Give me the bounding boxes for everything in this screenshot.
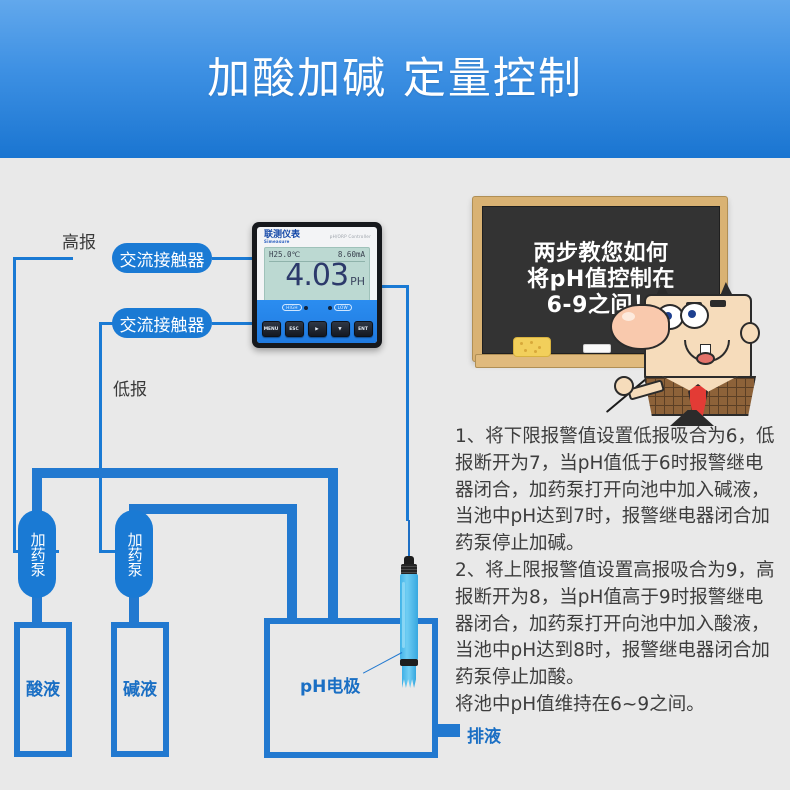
led-low-label: LOW xyxy=(334,304,352,311)
teacher-hand xyxy=(614,376,634,396)
controller-brand: 联测仪表 Simeasure xyxy=(264,231,300,244)
key-down-arrow-icon[interactable]: ▼ xyxy=(331,321,350,337)
wire-controller-to-electrode-h xyxy=(380,285,409,288)
electrode-label: pH电极 xyxy=(300,672,360,697)
ph-controller-device[interactable]: 联测仪表 Simeasure pH/ORP Controller H25.0℃ … xyxy=(252,222,382,348)
led-low: LOW xyxy=(328,304,352,311)
teacher-ear xyxy=(740,322,760,344)
controller-keypad-panel: HIGH LOW MENU ESC ▶ ▼ ENT xyxy=(257,300,377,343)
key-enter-button[interactable]: ENT xyxy=(354,321,373,337)
pipe-right-pump-to-alkali-tank xyxy=(129,596,139,624)
electrode-tip xyxy=(402,666,416,688)
wire-high-vertical xyxy=(13,257,16,553)
controller-model-label: pH/ORP Controller xyxy=(330,234,371,239)
sponge-eraser-icon xyxy=(513,337,551,357)
pump-alkali[interactable]: 加药泵 xyxy=(115,510,153,598)
contactor-low[interactable]: 交流接触器 xyxy=(112,308,212,338)
teacher-nose xyxy=(610,304,670,350)
wire-high-contactor-to-controller xyxy=(212,257,256,260)
page-root: 加酸加碱 定量控制 交流接触器 交流接触器 高报 低报 加药泵 加药泵 酸液 碱… xyxy=(0,0,790,790)
page-header: 加酸加碱 定量控制 xyxy=(0,0,790,158)
high-alarm-label: 高报 xyxy=(62,228,96,253)
contactor-high[interactable]: 交流接触器 xyxy=(112,243,212,273)
lcd-reading: 4.03 PH xyxy=(265,262,365,291)
blackboard-line-1: 两步教您如何 xyxy=(533,241,668,267)
pipe-right-top-run xyxy=(129,504,297,514)
page-title: 加酸加碱 定量控制 xyxy=(0,44,790,106)
pipe-left-down-to-tank xyxy=(328,468,338,623)
lcd-ph-unit: PH xyxy=(350,276,365,291)
wire-low-contactor-to-controller xyxy=(212,322,256,325)
instruction-step-3: 将池中pH值维持在6~9之间。 xyxy=(455,692,775,719)
tank-acid-label: 酸液 xyxy=(14,675,72,700)
drain-label: 排液 xyxy=(467,722,501,747)
electrode-highlight xyxy=(402,582,405,648)
wire-high-contactor-left xyxy=(13,257,73,260)
ph-electrode xyxy=(398,556,420,692)
controller-lcd-screen: H25.0℃ 8.60mA 4.03 PH xyxy=(264,247,370,304)
pump-acid[interactable]: 加药泵 xyxy=(18,510,56,598)
pump-acid-label: 加药泵 xyxy=(29,532,44,577)
drain-outlet-pipe xyxy=(434,724,460,737)
teacher-pupil-right xyxy=(688,310,696,318)
led-indicator-row: HIGH LOW xyxy=(257,304,377,311)
chalk-stick-icon xyxy=(583,344,611,353)
contactor-high-label: 交流接触器 xyxy=(120,246,205,271)
key-menu-button[interactable]: MENU xyxy=(262,321,281,337)
pipe-right-down-to-tank xyxy=(287,504,297,623)
teacher-brow-right xyxy=(710,300,726,307)
wire-low-vertical xyxy=(99,322,102,553)
controller-faceplate: 联测仪表 Simeasure pH/ORP Controller H25.0℃ … xyxy=(257,227,377,343)
wire-controller-to-electrode-v xyxy=(406,285,409,521)
electrode-cable xyxy=(408,520,410,558)
electrode-band xyxy=(400,659,418,666)
led-low-lamp-icon xyxy=(328,306,332,310)
low-alarm-label: 低报 xyxy=(113,375,147,400)
pipe-left-top-run xyxy=(32,468,338,478)
led-high: HIGH xyxy=(282,304,308,311)
teacher-tongue xyxy=(696,352,715,365)
controller-brand-en: Simeasure xyxy=(264,240,300,244)
teacher-cartoon xyxy=(612,288,788,428)
led-high-label: HIGH xyxy=(282,304,302,311)
instruction-step-1: 1、将下限报警值设置低报吸合为6，低报断开为7，当pH值低于6时报警继电器闭合，… xyxy=(455,424,775,558)
lcd-ph-value: 4.03 xyxy=(285,262,348,291)
instruction-step-2: 2、将上限报警值设置高报吸合为9，高报断开为8，当pH值高于9时报警继电器闭合，… xyxy=(455,558,775,692)
keypad-button-row: MENU ESC ▶ ▼ ENT xyxy=(257,321,377,337)
nose-highlight xyxy=(622,312,635,321)
contactor-low-label: 交流接触器 xyxy=(120,311,205,336)
key-right-arrow-icon[interactable]: ▶ xyxy=(308,321,327,337)
led-high-lamp-icon xyxy=(304,306,308,310)
tank-alkali-label: 碱液 xyxy=(111,675,169,700)
pipe-left-pump-to-acid-tank xyxy=(32,596,42,624)
key-esc-button[interactable]: ESC xyxy=(285,321,304,337)
pump-alkali-label: 加药泵 xyxy=(126,532,141,577)
